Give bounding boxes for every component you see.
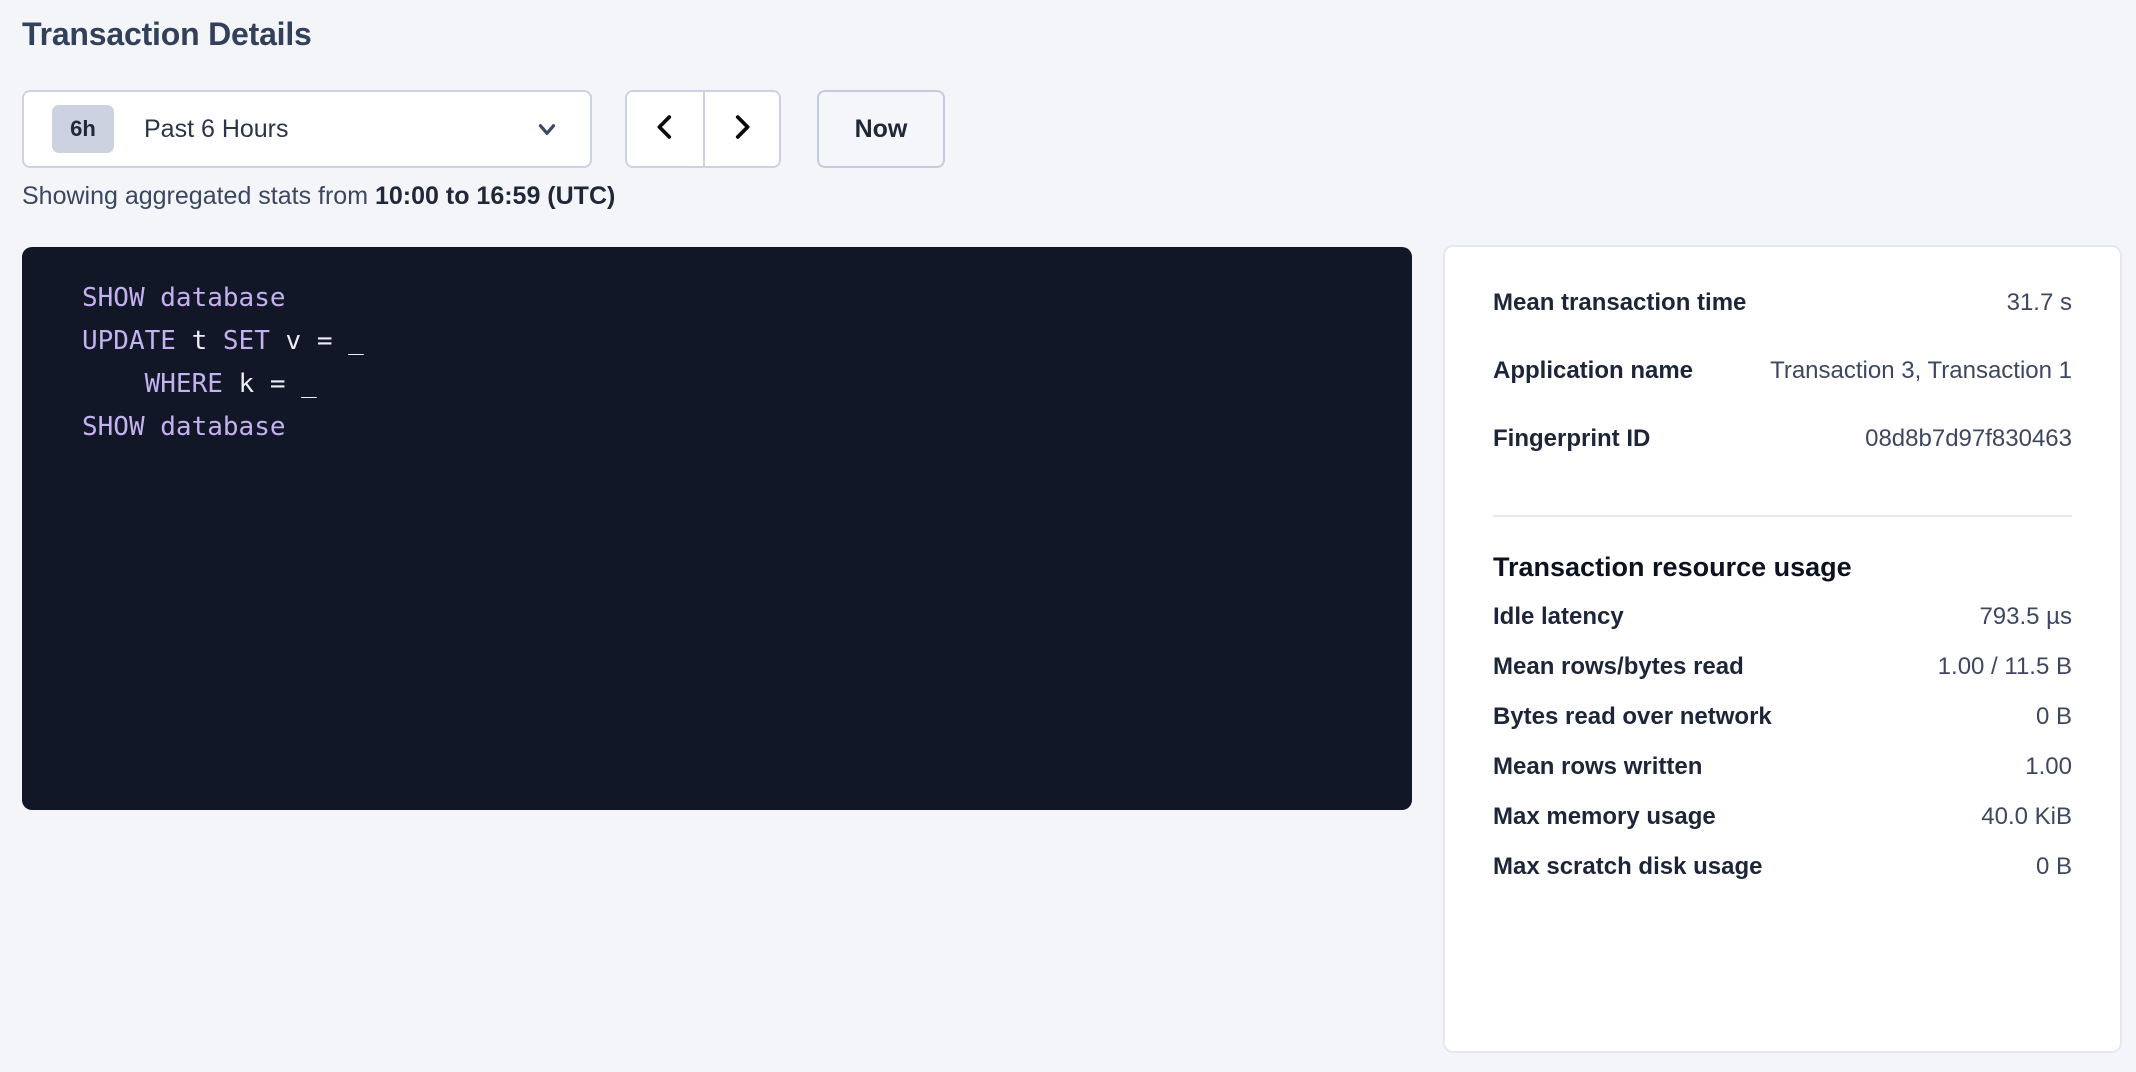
aggregation-range-text: Showing aggregated stats from 10:00 to 1…	[22, 180, 615, 212]
stat-label: Max memory usage	[1493, 803, 1716, 831]
time-range-select[interactable]: 6h Past 6 Hours	[22, 90, 592, 168]
sql-code-line: SHOW database	[22, 406, 1412, 449]
stat-label: Bytes read over network	[1493, 703, 1772, 731]
stat-value: 1.00 / 11.5 B	[1920, 653, 2072, 681]
transaction-resource-stats: Idle latency793.5 µsMean rows/bytes read…	[1493, 599, 2072, 903]
stat-row: Max memory usage40.0 KiB	[1493, 803, 2072, 853]
stat-label: Mean rows/bytes read	[1493, 653, 1744, 681]
stat-row: Application nameTransaction 3, Transacti…	[1493, 357, 2072, 425]
sql-code-line: WHERE k = _	[22, 363, 1412, 406]
stat-label: Mean transaction time	[1493, 289, 1746, 317]
sql-code-lines: SHOW databaseUPDATE t SET v = _ WHERE k …	[22, 277, 1412, 449]
stat-row: Mean rows written1.00	[1493, 753, 2072, 803]
aggregation-range-prefix: Showing aggregated stats from	[22, 182, 375, 210]
stat-value: 0 B	[2018, 703, 2072, 731]
now-button[interactable]: Now	[817, 90, 945, 168]
aggregation-range-value: 10:00 to 16:59 (UTC)	[375, 182, 615, 210]
stat-label: Max scratch disk usage	[1493, 853, 1762, 881]
time-range-label: Past 6 Hours	[144, 115, 534, 144]
sql-identifier: t	[192, 326, 223, 356]
transaction-summary-stats: Mean transaction time31.7 sApplication n…	[1493, 247, 2072, 493]
sql-identifier	[82, 369, 145, 399]
time-range-badge: 6h	[52, 105, 114, 153]
sql-keyword: SHOW	[82, 283, 160, 313]
transaction-details-page: Transaction Details 6h Past 6 Hours Now	[0, 0, 2136, 1072]
sql-keyword: database	[160, 412, 285, 442]
stat-value: 1.00	[2007, 753, 2072, 781]
chevron-right-icon	[725, 110, 759, 149]
stat-label: Application name	[1493, 357, 1693, 385]
stat-row: Mean rows/bytes read1.00 / 11.5 B	[1493, 653, 2072, 703]
stat-value: 0 B	[2018, 853, 2072, 881]
previous-range-button[interactable]	[627, 92, 703, 166]
stat-row: Bytes read over network0 B	[1493, 703, 2072, 753]
stat-row: Fingerprint ID08d8b7d97f830463	[1493, 425, 2072, 493]
sql-keyword: database	[160, 283, 285, 313]
stat-value: 40.0 KiB	[1963, 803, 2072, 831]
chevron-down-icon	[534, 116, 560, 142]
stat-row: Mean transaction time31.7 s	[1493, 289, 2072, 357]
sql-keyword: SHOW	[82, 412, 160, 442]
transaction-details-card: Mean transaction time31.7 sApplication n…	[1443, 245, 2122, 1053]
stat-label: Mean rows written	[1493, 753, 1702, 781]
stat-label: Fingerprint ID	[1493, 425, 1650, 453]
sql-statement-panel[interactable]: SHOW databaseUPDATE t SET v = _ WHERE k …	[22, 247, 1412, 810]
next-range-button[interactable]	[703, 92, 779, 166]
stat-value: 31.7 s	[1989, 289, 2072, 317]
chevron-left-icon	[648, 110, 682, 149]
stat-row: Idle latency793.5 µs	[1493, 603, 2072, 653]
stat-row: Max scratch disk usage0 B	[1493, 853, 2072, 903]
sql-identifier: k = _	[239, 369, 317, 399]
stat-label: Idle latency	[1493, 603, 1624, 631]
stat-value: Transaction 3, Transaction 1	[1752, 357, 2072, 385]
sql-code-line: UPDATE t SET v = _	[22, 320, 1412, 363]
page-title: Transaction Details	[22, 14, 312, 54]
sql-keyword: WHERE	[145, 369, 239, 399]
sql-code-line: SHOW database	[22, 277, 1412, 320]
resource-usage-heading: Transaction resource usage	[1493, 517, 2072, 599]
sql-identifier: v = _	[286, 326, 364, 356]
stat-value: 08d8b7d97f830463	[1847, 425, 2072, 453]
sql-keyword: SET	[223, 326, 286, 356]
stat-value: 793.5 µs	[1961, 603, 2072, 631]
time-nav-group	[625, 90, 781, 168]
sql-keyword: UPDATE	[82, 326, 192, 356]
